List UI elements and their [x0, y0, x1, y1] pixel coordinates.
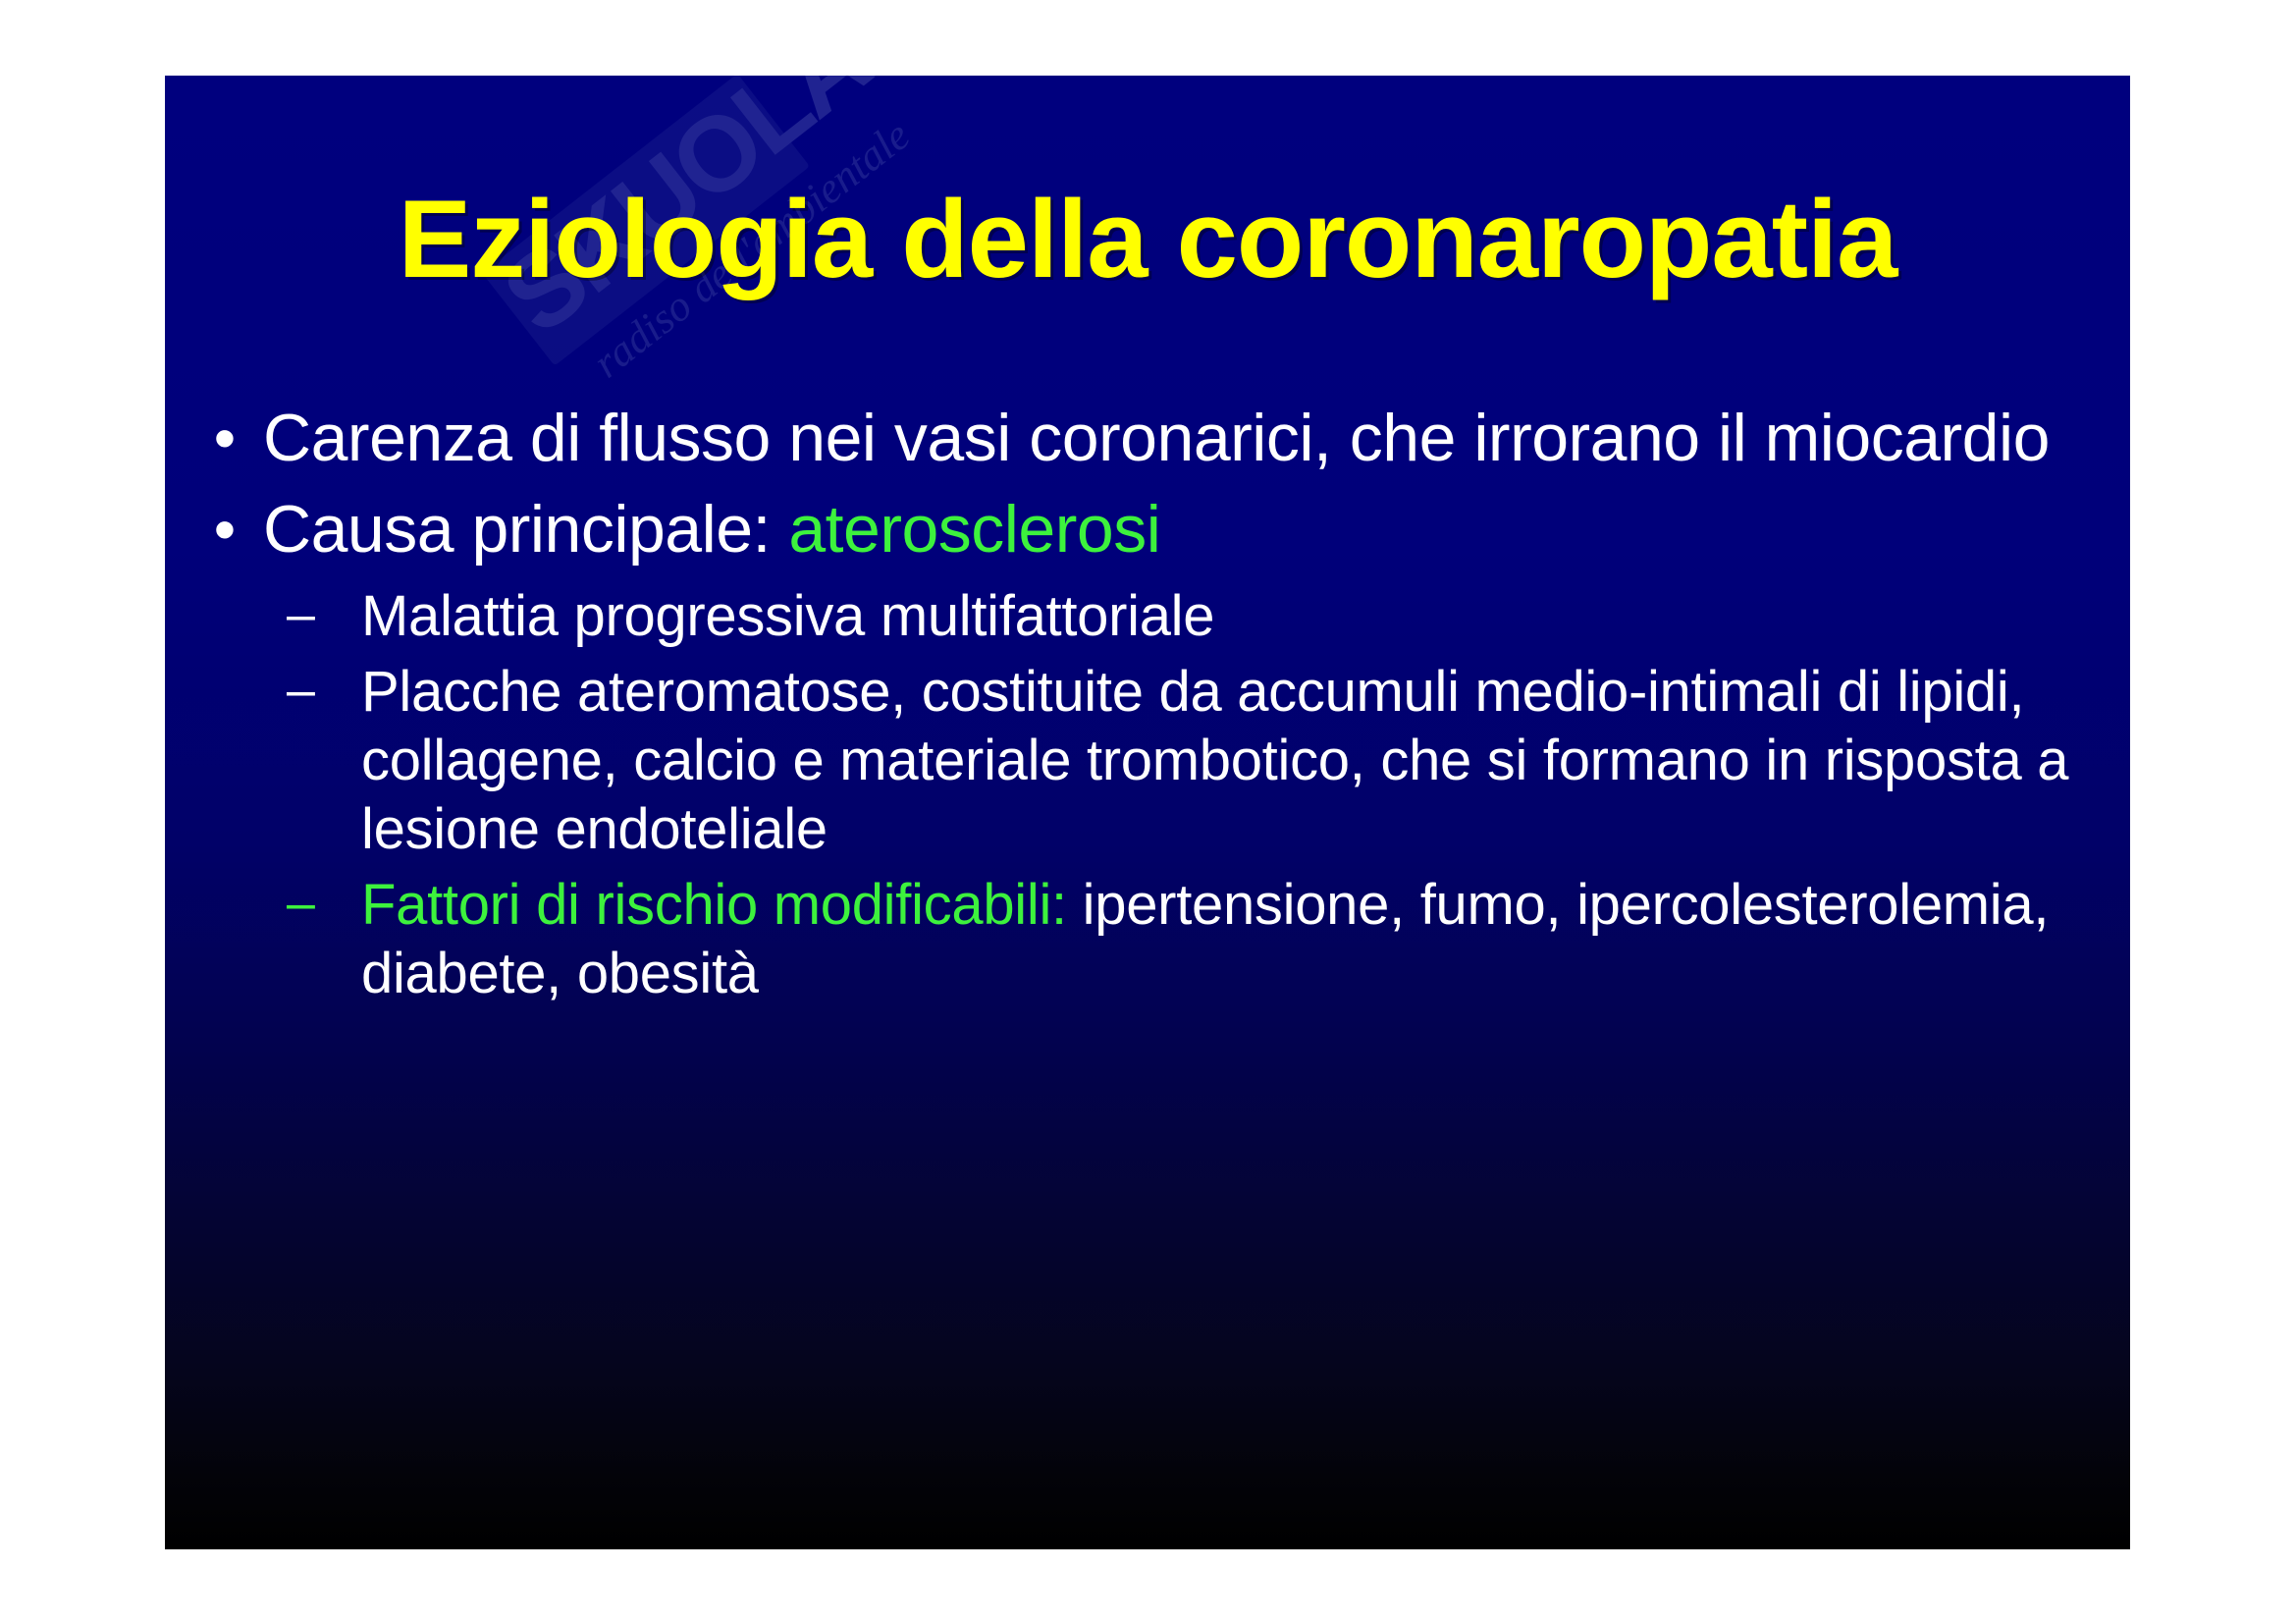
presentation-slide: SKUOLA.net radiso dell'ambientale Eziolo… — [165, 76, 2130, 1549]
bullet-marker-icon: • — [187, 491, 263, 568]
bullet-item: • Carenza di flusso nei vasi coronarici,… — [187, 400, 2091, 477]
bullet-item: • Causa principale: aterosclerosi — [187, 491, 2091, 568]
bullet-text: Carenza di flusso nei vasi coronarici, c… — [263, 400, 2091, 477]
bullet-text-accent: aterosclerosi — [788, 492, 1160, 567]
bullet-text-plain: Causa principale: — [263, 492, 788, 567]
watermark-tld: .net — [828, 76, 992, 92]
slide-body: • Carenza di flusso nei vasi coronarici,… — [187, 400, 2091, 1015]
sub-bullet-text: Fattori di rischio modificabili: iperten… — [361, 871, 2091, 1007]
sub-bullet-text-accent: Fattori di rischio modificabili: — [361, 873, 1067, 937]
dash-marker-icon: – — [281, 658, 361, 725]
dash-marker-icon: – — [281, 871, 361, 938]
page-background: SKUOLA.net radiso dell'ambientale Eziolo… — [0, 0, 2296, 1623]
sub-bullet-text: Placche ateromatose, costituite da accum… — [361, 658, 2091, 863]
sub-bullet-item: – Fattori di rischio modificabili: ipert… — [281, 871, 2091, 1007]
bullet-text: Causa principale: aterosclerosi — [263, 491, 2091, 568]
sub-bullet-text: Malattia progressiva multifattoriale — [361, 582, 2091, 651]
sub-bullet-group: – Malattia progressiva multifattoriale –… — [187, 582, 2091, 1008]
bullet-marker-icon: • — [187, 400, 263, 476]
sub-bullet-item: – Malattia progressiva multifattoriale — [281, 582, 2091, 651]
sub-bullet-item: – Placche ateromatose, costituite da acc… — [281, 658, 2091, 863]
slide-title: Eziologia della coronaropatia — [165, 182, 2130, 298]
dash-marker-icon: – — [281, 582, 361, 649]
